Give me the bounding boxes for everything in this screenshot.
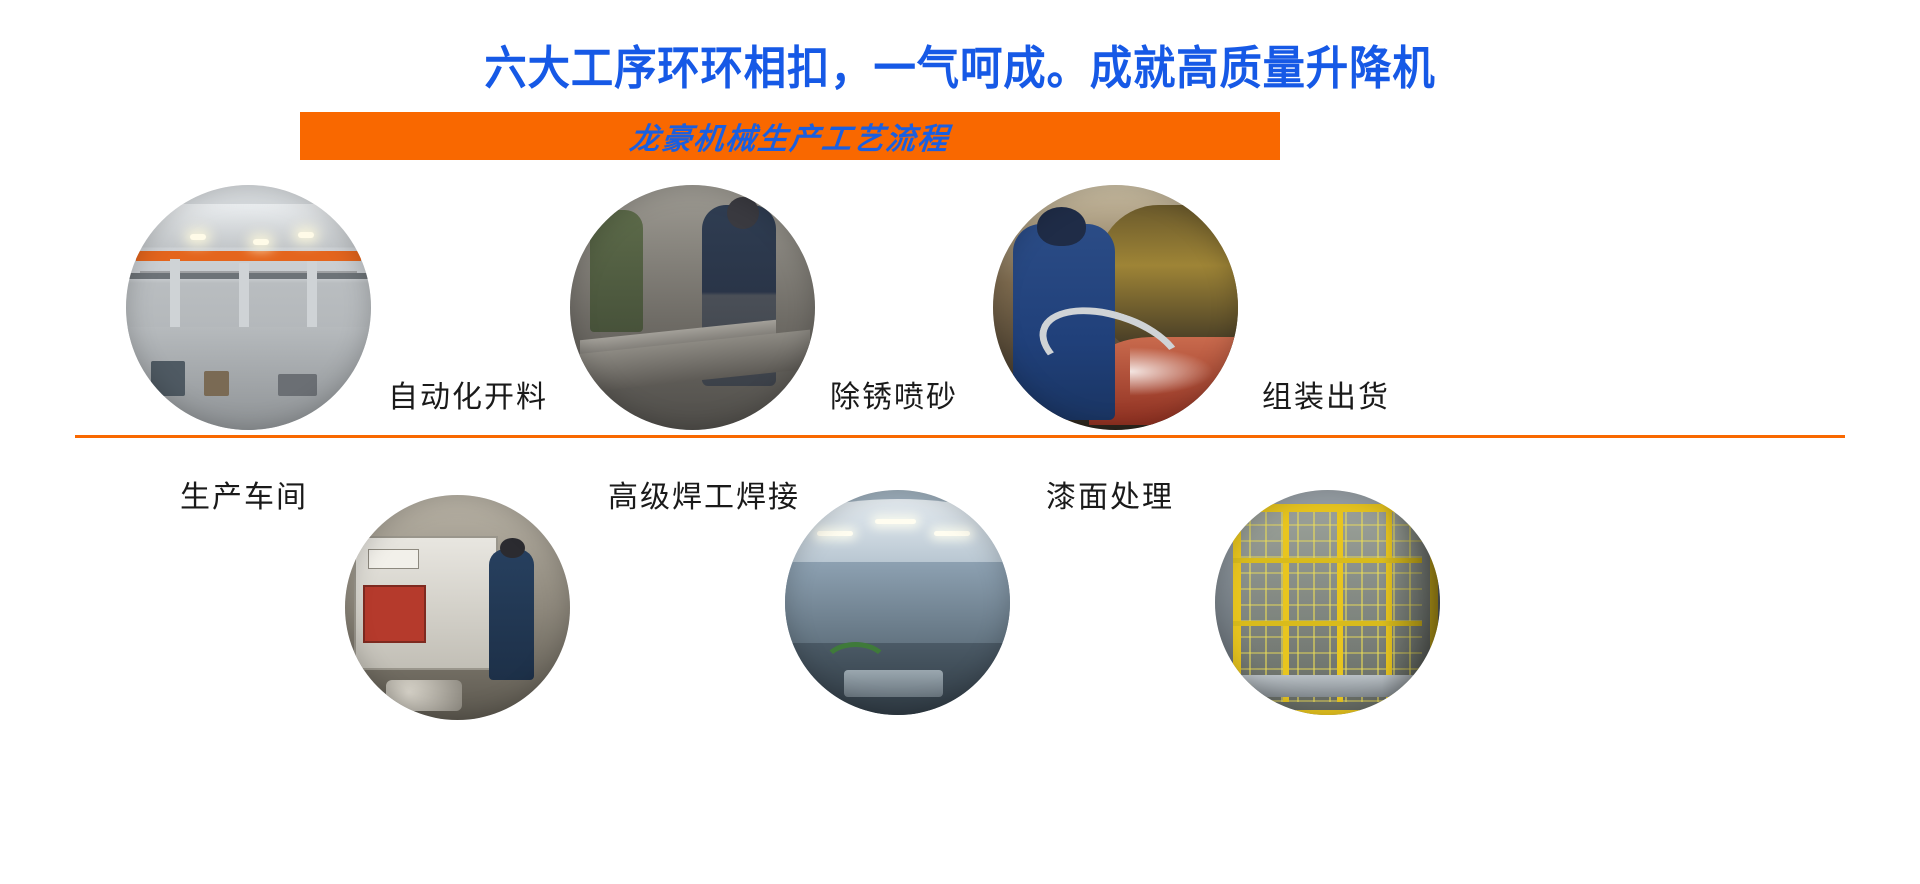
cutting-photo [570,185,815,430]
section-divider [75,435,1845,438]
step-label-sandblasting: 除锈喷砂 [830,372,958,416]
process-flow-page: 六大工序环环相扣，一气呵成。成就高质量升降机 龙豪机械生产工艺流程 [0,0,1920,884]
step-label-workshop: 生产车间 [180,472,308,516]
step-label-cutting: 自动化开料 [388,372,548,416]
page-headline: 六大工序环环相扣，一气呵成。成就高质量升降机 [77,40,1843,96]
workshop-photo [126,185,371,430]
step-label-assembly: 组装出货 [1262,372,1390,416]
painting-photo [785,490,1010,715]
sandblasting-photo [993,185,1238,430]
assembly-photo [1215,490,1440,715]
step-label-welding: 高级焊工焊接 [608,472,800,516]
step-label-painting: 漆面处理 [1046,472,1174,516]
welding-photo [345,495,570,720]
subtitle-banner-text: 龙豪机械生产工艺流程 [628,114,953,158]
subtitle-banner: 龙豪机械生产工艺流程 [300,112,1280,160]
